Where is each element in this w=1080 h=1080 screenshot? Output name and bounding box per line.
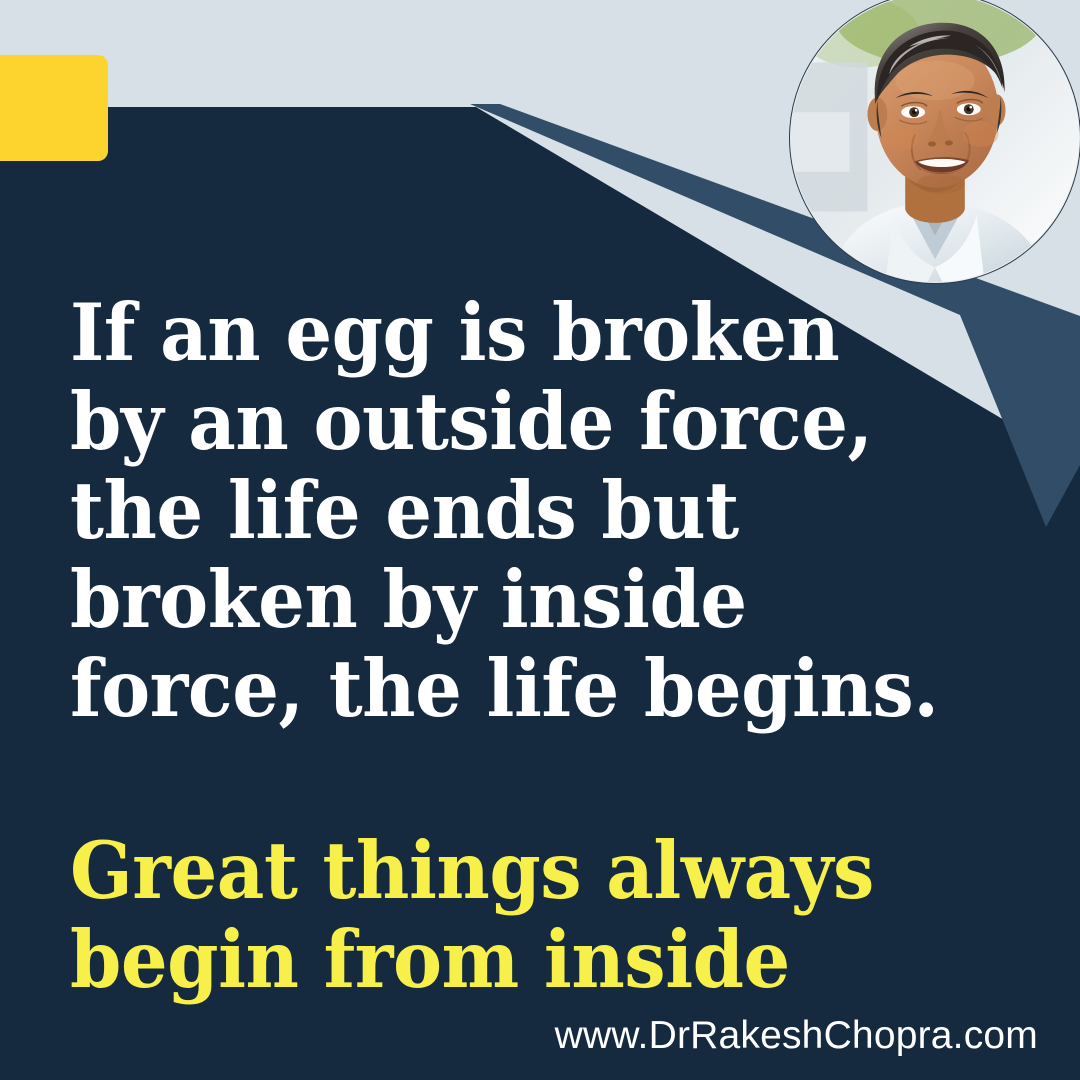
yellow-accent-block <box>0 55 108 161</box>
website-url[interactable]: www.DrRakeshChopra.com <box>555 1012 1038 1060</box>
quote-line: broken by inside <box>70 555 907 644</box>
tagline-line: begin from inside <box>70 915 944 1004</box>
quote-line: by an outside force, <box>70 377 907 466</box>
quote-line: If an egg is broken <box>70 288 907 377</box>
quote-line: force, the life begins. <box>70 644 907 733</box>
quote-card: If an egg is broken by an outside force,… <box>0 0 1080 1080</box>
tagline-line: Great things always <box>70 826 944 915</box>
tagline-text: Great things always begin from inside <box>70 826 1010 1004</box>
quote-text: If an egg is broken by an outside force,… <box>70 288 970 733</box>
avatar <box>789 0 1080 284</box>
quote-line: the life ends but <box>70 466 907 555</box>
portrait-illustration <box>790 0 1080 283</box>
